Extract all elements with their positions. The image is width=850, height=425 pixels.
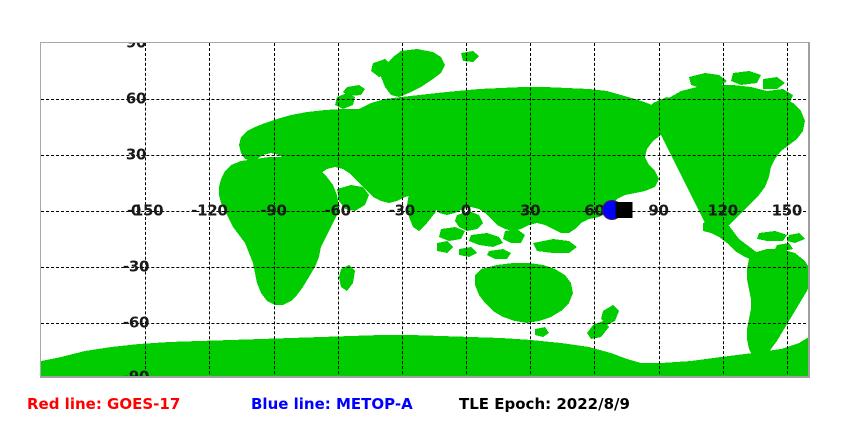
lat-tick-label--30: -30 bbox=[123, 260, 149, 275]
lat-tick-label-90: 90 bbox=[126, 42, 146, 51]
legend-metop-a: Blue line: METOP-A bbox=[251, 392, 413, 417]
lon-tick-label-30: 30 bbox=[520, 204, 540, 219]
lon-tick-label-90: 90 bbox=[648, 204, 668, 219]
lon-tick-label-60: 60 bbox=[584, 204, 604, 219]
satellite-ground-track-map: -150 -120 -90 -60 -30 0 30 60 90 120 150… bbox=[0, 0, 850, 425]
lat-tick-label-30: 30 bbox=[126, 148, 146, 163]
legend-footer: Red line: GOES-17 Blue line: METOP-A TLE… bbox=[0, 392, 850, 425]
lat-tick-label--90: -90 bbox=[123, 370, 149, 379]
lat-tick-label--60: -60 bbox=[123, 316, 149, 331]
lat-tick-label-0: 0 bbox=[131, 204, 141, 219]
satellite-marker-2[interactable] bbox=[623, 202, 632, 218]
lon-tick-label--30: -30 bbox=[389, 204, 415, 219]
lon-tick-label-120: 120 bbox=[707, 204, 737, 219]
lon-tick-label--120: -120 bbox=[191, 204, 227, 219]
map-plot-area[interactable]: -150 -120 -90 -60 -30 0 30 60 90 120 150… bbox=[40, 42, 810, 378]
lat-tick-label-60: 60 bbox=[126, 92, 146, 107]
legend-goes-17: Red line: GOES-17 bbox=[27, 392, 180, 417]
lon-tick-label--60: -60 bbox=[325, 204, 351, 219]
tle-epoch-label: TLE Epoch: 2022/8/9 bbox=[459, 392, 630, 417]
lon-tick-label-150: 150 bbox=[772, 204, 802, 219]
lon-tick-label--90: -90 bbox=[260, 204, 286, 219]
lon-tick-label-0: 0 bbox=[461, 204, 471, 219]
